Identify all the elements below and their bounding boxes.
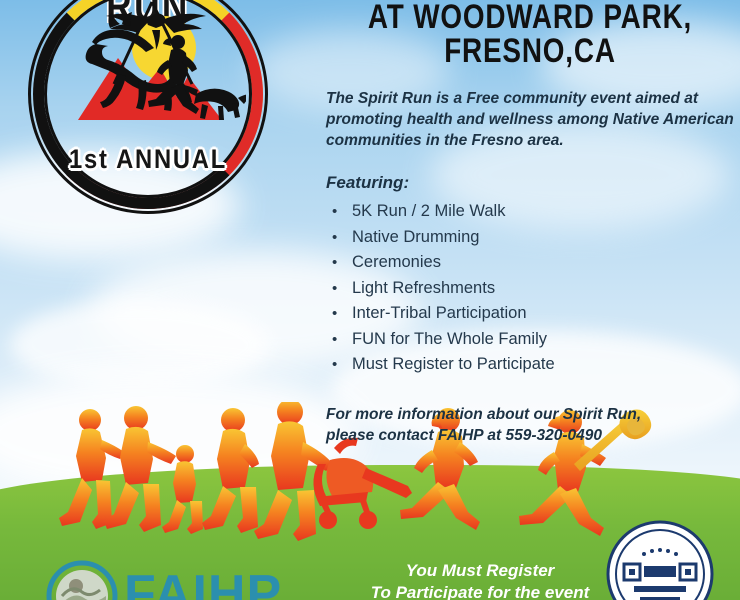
list-item: Ceremonies [326,250,734,276]
logo-artwork [56,0,246,148]
contact-line1: For more information about our Spirit Ru… [326,404,734,425]
list-item: Light Refreshments [326,276,734,302]
contact-info: For more information about our Spirit Ru… [326,404,734,446]
intro-paragraph: The Spirit Run is a Free community event… [326,88,734,151]
register-notice-line1: You Must Register [330,560,630,582]
list-item: FUN for The Whole Family [326,327,734,353]
stroller-silhouette [313,438,412,529]
featuring-list: 5K Run / 2 Mile Walk Native Drumming Cer… [326,199,734,378]
logo-annual-text: 1st ANNUAL [28,144,267,175]
faihp-wordmark: FAIHP [124,564,282,600]
contact-line2: please contact FAIHP at 559-320-0490 [326,425,734,446]
list-item: Must Register to Participate [326,352,734,378]
list-item: Native Drumming [326,225,734,251]
flyer-canvas: SPIRIT RUN [0,0,740,600]
featuring-title: Featuring: [326,173,734,193]
headline-line2: FRESNO,CA [363,34,698,68]
content-column: AT WOODWARD PARK, FRESNO,CA The Spirit R… [326,0,734,446]
walker-silhouette [202,408,259,533]
list-item: Inter-Tribal Participation [326,301,734,327]
spirit-run-logo: SPIRIT RUN [12,0,284,230]
walker-silhouette [59,409,124,529]
faihp-logo: FAIHP [46,556,296,600]
seal-badge-icon [604,518,716,600]
walker-silhouette [104,406,176,532]
faihp-emblem-icon [46,560,118,600]
headline-line1: AT WOODWARD PARK, [363,0,698,34]
list-item: 5K Run / 2 Mile Walk [326,199,734,225]
register-notice-line2: To Participate for the event [330,582,630,600]
register-notice: You Must Register To Participate for the… [330,560,630,600]
